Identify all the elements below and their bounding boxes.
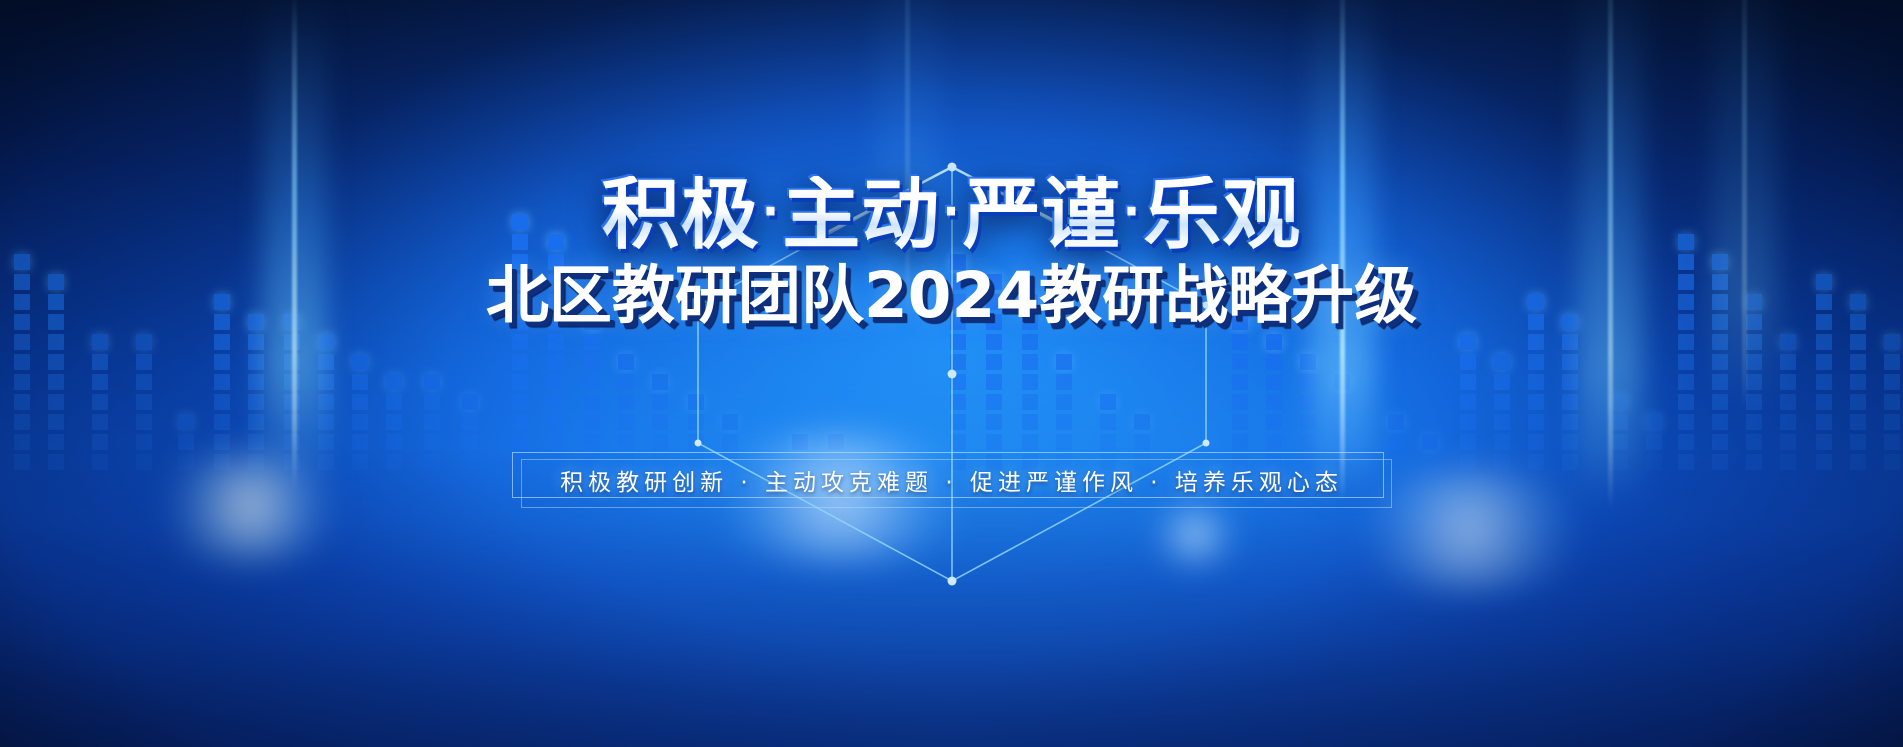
- title-word: 严谨: [963, 170, 1121, 260]
- tagline-frame: 积极教研创新 · 主动攻克难题 · 促进严谨作风 · 培养乐观心态: [512, 452, 1392, 508]
- banner-root: 积极·主动·严谨·乐观 北区教研团队2024教研战略升级 积极教研创新 · 主动…: [0, 0, 1903, 747]
- banner-content: 积极·主动·严谨·乐观 北区教研团队2024教研战略升级 积极教研创新 · 主动…: [0, 0, 1903, 747]
- title-separator: ·: [940, 184, 962, 238]
- title-word: 主动: [782, 170, 940, 260]
- page-title: 积极·主动·严谨·乐观: [0, 176, 1903, 254]
- title-word: 乐观: [1143, 170, 1301, 260]
- title-word: 积极: [602, 170, 760, 260]
- page-subtitle: 北区教研团队2024教研战略升级: [0, 264, 1903, 327]
- tagline-text: 积极教研创新 · 主动攻克难题 · 促进严谨作风 · 培养乐观心态: [512, 452, 1392, 508]
- title-separator: ·: [1121, 184, 1143, 238]
- title-separator: ·: [760, 184, 782, 238]
